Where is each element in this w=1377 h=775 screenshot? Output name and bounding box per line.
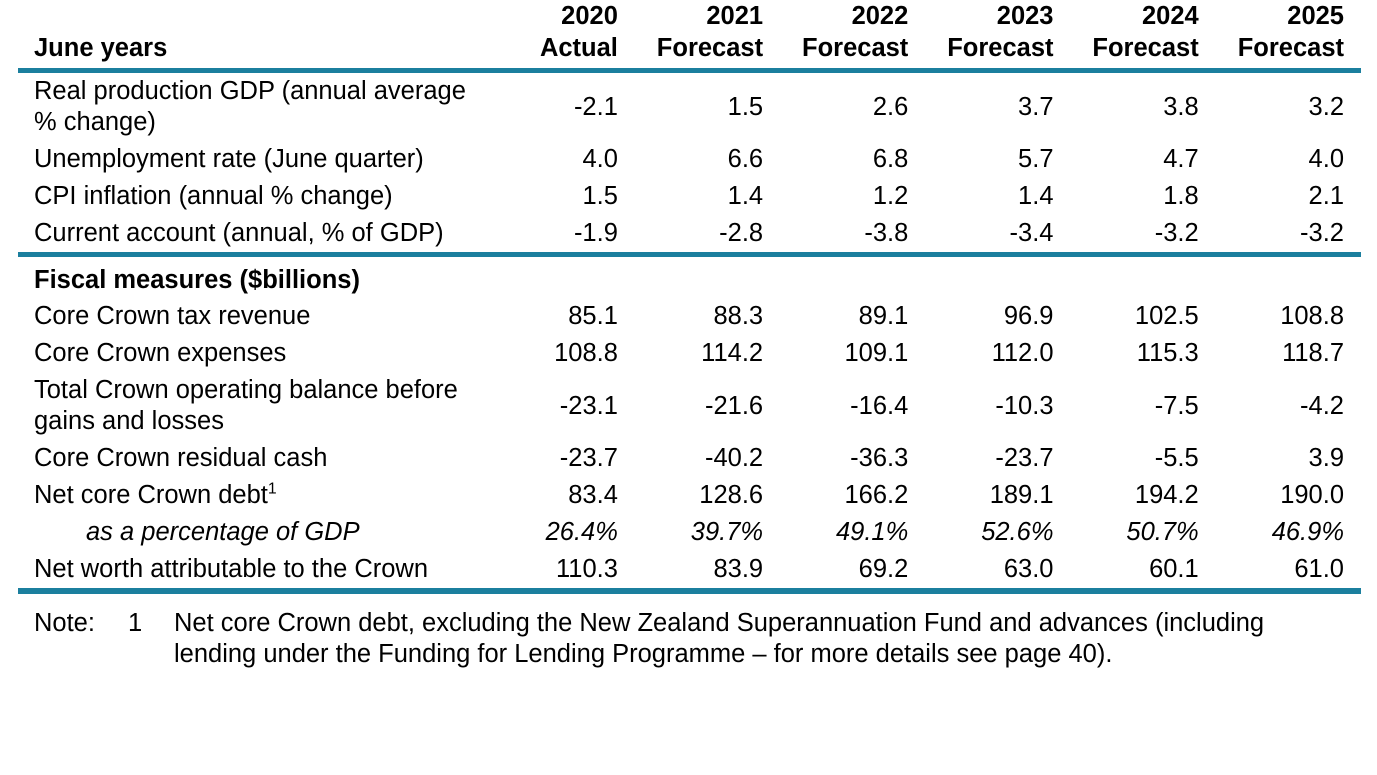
table-row: Core Crown expenses 108.8 114.2 109.1 11… — [18, 335, 1361, 372]
cell-expenses-2020: 108.8 — [490, 335, 635, 372]
cell-residual-cash-2021: -40.2 — [635, 440, 780, 477]
table-row: Unemployment rate (June quarter) 4.0 6.6… — [18, 141, 1361, 178]
section-heading-fiscal-measures: Fiscal measures ($billions) — [18, 257, 1361, 298]
cell-net-debt-2020: 83.4 — [490, 477, 635, 514]
cell-residual-cash-2024: -5.5 — [1071, 440, 1216, 477]
row-label-core-crown-expenses: Core Crown expenses — [18, 335, 490, 372]
cell-debt-pct-gdp-2021: 39.7% — [635, 514, 780, 551]
cell-real-gdp-2025: 3.2 — [1216, 73, 1361, 141]
table-row: Net worth attributable to the Crown 110.… — [18, 551, 1361, 588]
column-header-2024-year: 2024 — [1071, 0, 1199, 32]
table-header-row: June years 2020 Actual 2021 Forecast 202… — [18, 0, 1361, 68]
cell-net-debt-2023: 189.1 — [925, 477, 1070, 514]
row-label-cpi-inflation: CPI inflation (annual % change) — [18, 178, 490, 215]
cell-current-account-2021: -2.8 — [635, 215, 780, 252]
cell-net-debt-2024: 194.2 — [1071, 477, 1216, 514]
cell-residual-cash-2022: -36.3 — [780, 440, 925, 477]
section-heading-row: Fiscal measures ($billions) — [18, 257, 1361, 298]
column-header-2021: 2021 Forecast — [635, 0, 780, 68]
cell-tax-revenue-2023: 96.9 — [925, 298, 1070, 335]
cell-net-worth-2024: 60.1 — [1071, 551, 1216, 588]
cell-cpi-2021: 1.4 — [635, 178, 780, 215]
table-row: Core Crown residual cash -23.7 -40.2 -36… — [18, 440, 1361, 477]
column-header-2022: 2022 Forecast — [780, 0, 925, 68]
footnote-number: 1 — [128, 608, 174, 639]
row-label-unemployment-rate: Unemployment rate (June quarter) — [18, 141, 490, 178]
cell-real-gdp-2024: 3.8 — [1071, 73, 1216, 141]
column-header-2025-kind: Forecast — [1216, 32, 1344, 64]
row-label-net-worth-attributable-to-the-crown: Net worth attributable to the Crown — [18, 551, 490, 588]
column-header-2022-kind: Forecast — [780, 32, 908, 64]
cell-residual-cash-2020: -23.7 — [490, 440, 635, 477]
row-label-real-production-gdp: Real production GDP (annual average % ch… — [18, 73, 490, 141]
row-label-net-core-crown-debt-text: Net core Crown debt — [34, 481, 268, 509]
cell-debt-pct-gdp-2023: 52.6% — [925, 514, 1070, 551]
cell-obegal-2020: -23.1 — [490, 372, 635, 440]
cell-tax-revenue-2021: 88.3 — [635, 298, 780, 335]
table-body-economic: Real production GDP (annual average % ch… — [18, 73, 1361, 257]
column-header-2023-year: 2023 — [925, 0, 1053, 32]
column-header-2023: 2023 Forecast — [925, 0, 1070, 68]
cell-debt-pct-gdp-2025: 46.9% — [1216, 514, 1361, 551]
cell-cpi-2022: 1.2 — [780, 178, 925, 215]
column-header-2021-kind: Forecast — [635, 32, 763, 64]
cell-obegal-2021: -21.6 — [635, 372, 780, 440]
cell-expenses-2024: 115.3 — [1071, 335, 1216, 372]
cell-cpi-2025: 2.1 — [1216, 178, 1361, 215]
table-row: as a percentage of GDP 26.4% 39.7% 49.1%… — [18, 514, 1361, 551]
cell-current-account-2023: -3.4 — [925, 215, 1070, 252]
cell-tax-revenue-2020: 85.1 — [490, 298, 635, 335]
footnote-marker-1: 1 — [268, 481, 277, 498]
column-header-2021-year: 2021 — [635, 0, 763, 32]
cell-net-worth-2023: 63.0 — [925, 551, 1070, 588]
economic-and-fiscal-summary-table: June years 2020 Actual 2021 Forecast 202… — [18, 0, 1361, 594]
cell-net-worth-2022: 69.2 — [780, 551, 925, 588]
row-label-core-crown-residual-cash: Core Crown residual cash — [18, 440, 490, 477]
column-header-2022-year: 2022 — [780, 0, 908, 32]
cell-unemployment-2025: 4.0 — [1216, 141, 1361, 178]
cell-unemployment-2024: 4.7 — [1071, 141, 1216, 178]
cell-unemployment-2022: 6.8 — [780, 141, 925, 178]
row-label-net-core-crown-debt: Net core Crown debt1 — [18, 477, 490, 514]
cell-obegal-2023: -10.3 — [925, 372, 1070, 440]
cell-unemployment-2021: 6.6 — [635, 141, 780, 178]
footnote-label: Note: — [18, 608, 128, 639]
column-header-2024: 2024 Forecast — [1071, 0, 1216, 68]
cell-tax-revenue-2022: 89.1 — [780, 298, 925, 335]
cell-expenses-2025: 118.7 — [1216, 335, 1361, 372]
column-header-2025: 2025 Forecast — [1216, 0, 1361, 68]
cell-expenses-2022: 109.1 — [780, 335, 925, 372]
cell-real-gdp-2021: 1.5 — [635, 73, 780, 141]
cell-current-account-2022: -3.8 — [780, 215, 925, 252]
cell-current-account-2024: -3.2 — [1071, 215, 1216, 252]
cell-obegal-2025: -4.2 — [1216, 372, 1361, 440]
row-label-core-crown-tax-revenue: Core Crown tax revenue — [18, 298, 490, 335]
column-header-2020-year: 2020 — [490, 0, 618, 32]
table-row: Core Crown tax revenue 85.1 88.3 89.1 96… — [18, 298, 1361, 335]
cell-cpi-2023: 1.4 — [925, 178, 1070, 215]
row-label-current-account: Current account (annual, % of GDP) — [18, 215, 490, 252]
cell-tax-revenue-2025: 108.8 — [1216, 298, 1361, 335]
cell-obegal-2022: -16.4 — [780, 372, 925, 440]
table-body-fiscal: Fiscal measures ($billions) Core Crown t… — [18, 257, 1361, 594]
cell-real-gdp-2020: -2.1 — [490, 73, 635, 141]
cell-debt-pct-gdp-2020: 26.4% — [490, 514, 635, 551]
cell-expenses-2023: 112.0 — [925, 335, 1070, 372]
table-row: Real production GDP (annual average % ch… — [18, 73, 1361, 141]
cell-residual-cash-2025: 3.9 — [1216, 440, 1361, 477]
cell-cpi-2020: 1.5 — [490, 178, 635, 215]
cell-net-debt-2022: 166.2 — [780, 477, 925, 514]
cell-debt-pct-gdp-2024: 50.7% — [1071, 514, 1216, 551]
column-header-2020-kind: Actual — [490, 32, 618, 64]
cell-real-gdp-2022: 2.6 — [780, 73, 925, 141]
cell-debt-pct-gdp-2022: 49.1% — [780, 514, 925, 551]
cell-current-account-2020: -1.9 — [490, 215, 635, 252]
cell-current-account-2025: -3.2 — [1216, 215, 1361, 252]
cell-expenses-2021: 114.2 — [635, 335, 780, 372]
cell-net-worth-2020: 110.3 — [490, 551, 635, 588]
cell-tax-revenue-2024: 102.5 — [1071, 298, 1216, 335]
cell-residual-cash-2023: -23.7 — [925, 440, 1070, 477]
table-row: Net core Crown debt1 83.4 128.6 166.2 18… — [18, 477, 1361, 514]
table-row: Current account (annual, % of GDP) -1.9 … — [18, 215, 1361, 252]
column-header-2024-kind: Forecast — [1071, 32, 1199, 64]
cell-net-worth-2025: 61.0 — [1216, 551, 1361, 588]
column-header-2020: 2020 Actual — [490, 0, 635, 68]
table-row: Total Crown operating balance before gai… — [18, 372, 1361, 440]
cell-real-gdp-2023: 3.7 — [925, 73, 1070, 141]
cell-net-debt-2021: 128.6 — [635, 477, 780, 514]
table-footnote: Note: 1 Net core Crown debt, excluding t… — [18, 594, 1361, 670]
table-row: CPI inflation (annual % change) 1.5 1.4 … — [18, 178, 1361, 215]
cell-obegal-2024: -7.5 — [1071, 372, 1216, 440]
cell-unemployment-2023: 5.7 — [925, 141, 1070, 178]
cell-cpi-2024: 1.8 — [1071, 178, 1216, 215]
cell-net-worth-2021: 83.9 — [635, 551, 780, 588]
column-header-2023-kind: Forecast — [925, 32, 1053, 64]
footnote-text: Net core Crown debt, excluding the New Z… — [174, 608, 1361, 670]
fiscal-summary-table-page: June years 2020 Actual 2021 Forecast 202… — [0, 0, 1377, 775]
column-header-label: June years — [18, 0, 490, 68]
cell-unemployment-2020: 4.0 — [490, 141, 635, 178]
cell-net-debt-2025: 190.0 — [1216, 477, 1361, 514]
row-label-total-crown-operating-balance: Total Crown operating balance before gai… — [18, 372, 490, 440]
row-label-as-a-percentage-of-gdp: as a percentage of GDP — [18, 514, 490, 551]
column-header-2025-year: 2025 — [1216, 0, 1344, 32]
label-header-text: June years — [34, 32, 490, 64]
table-header: June years 2020 Actual 2021 Forecast 202… — [18, 0, 1361, 73]
